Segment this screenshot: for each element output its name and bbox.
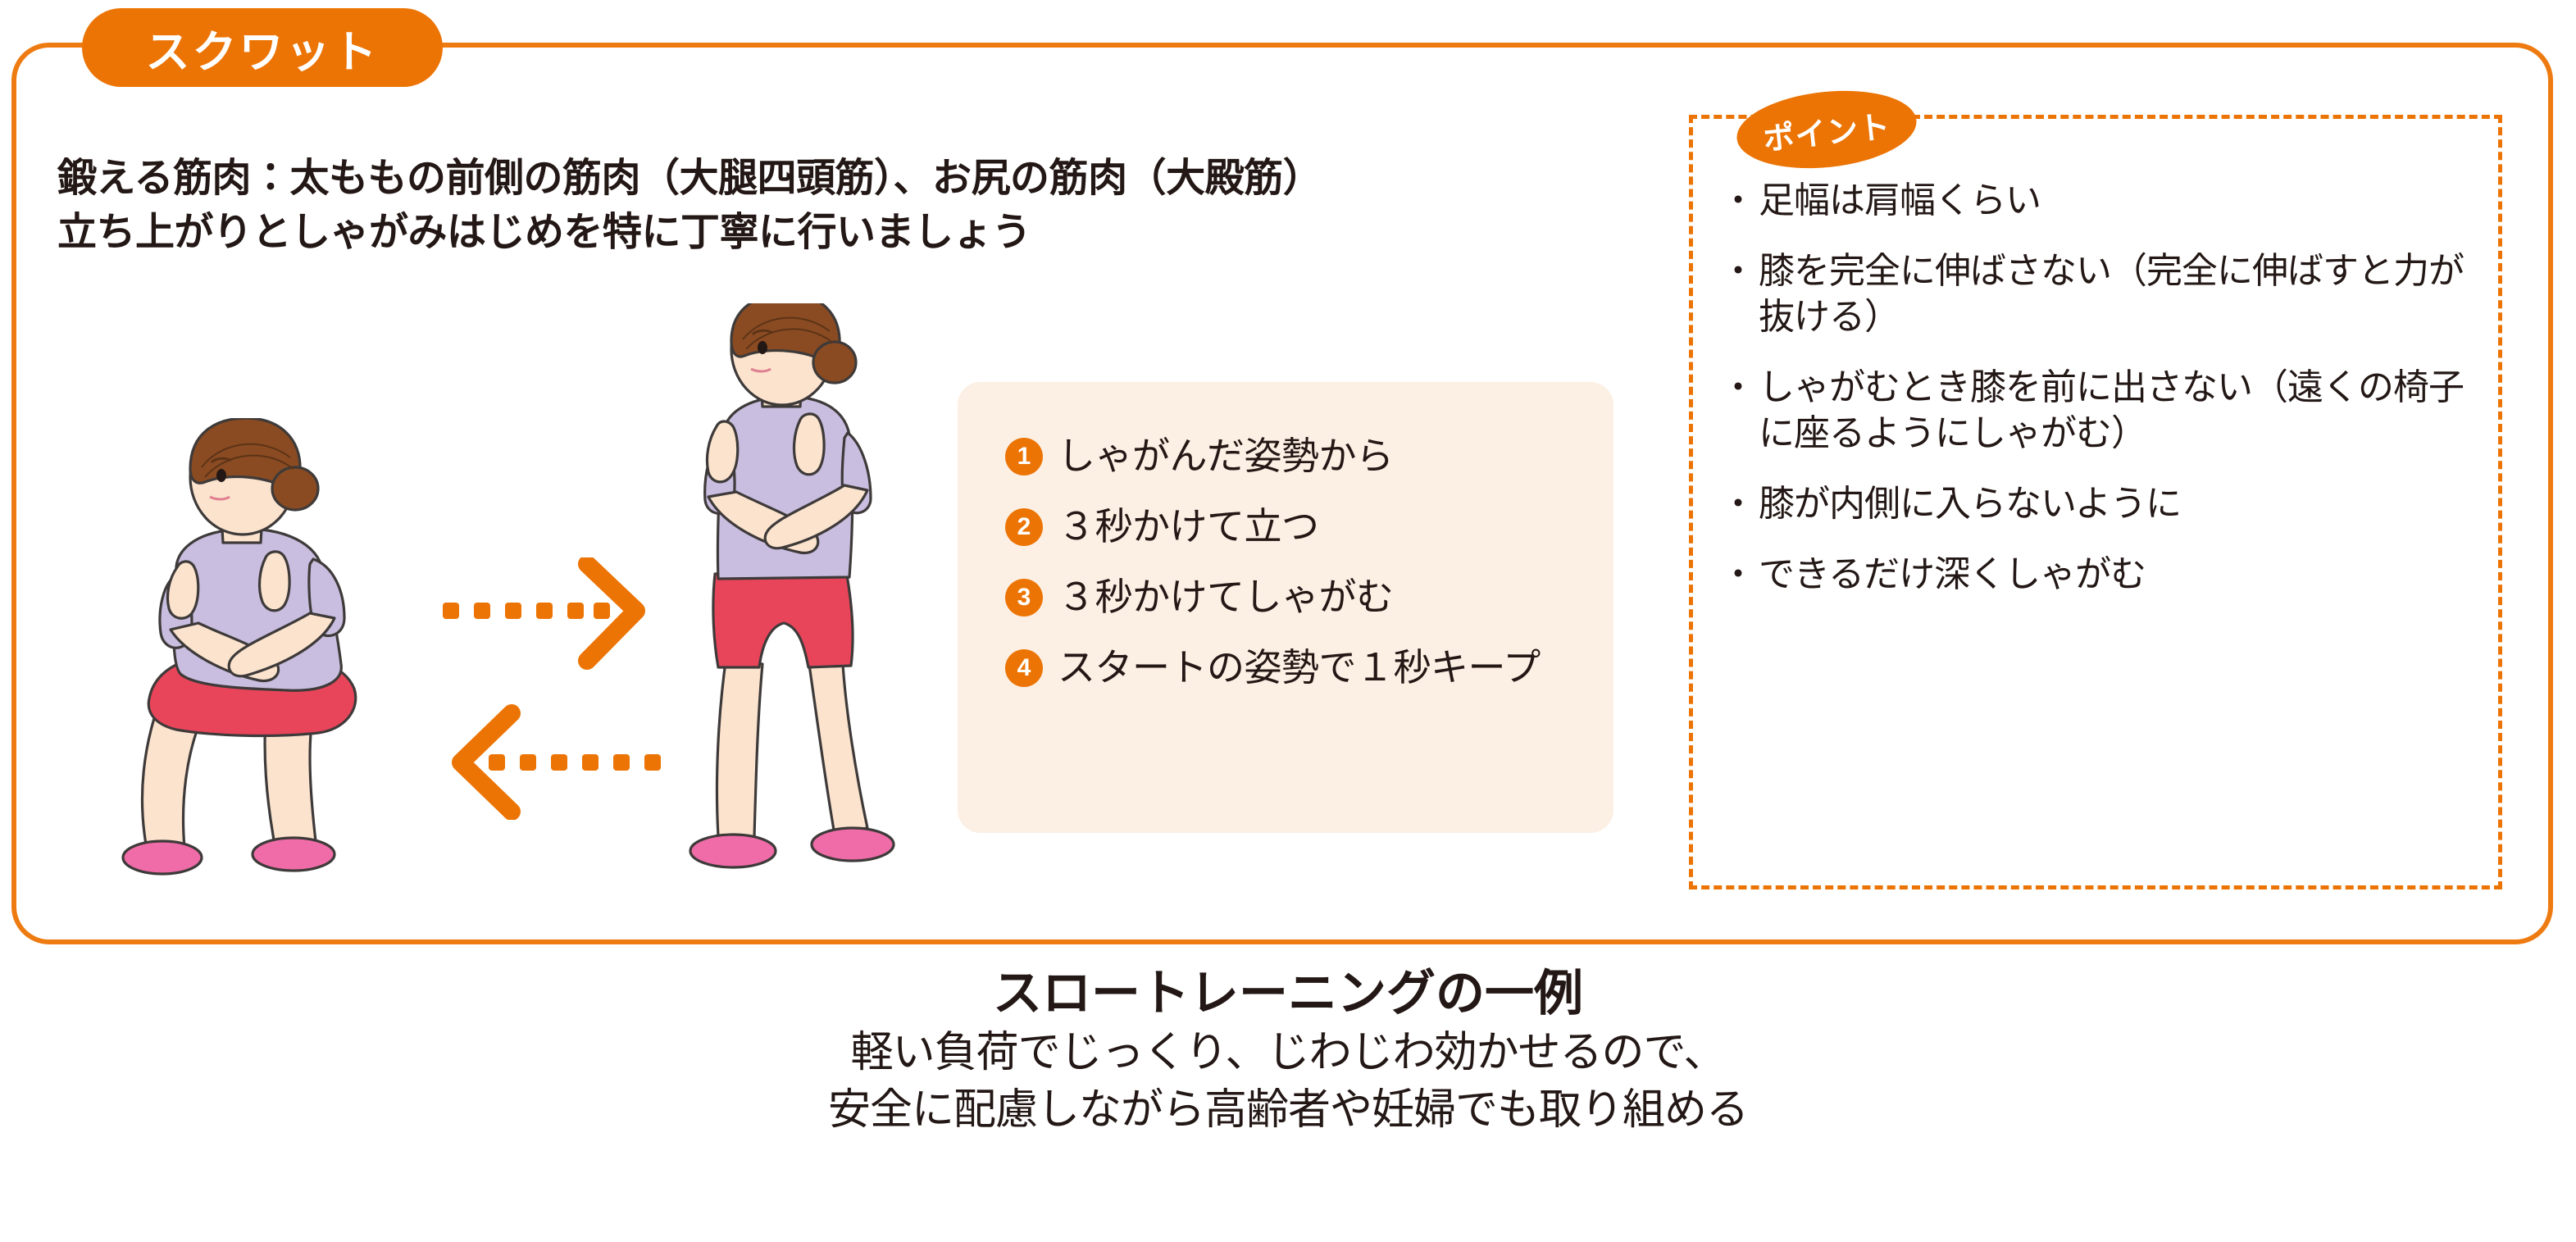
step-text-4: スタートの姿勢で１秒キープ [1058, 643, 1541, 692]
point-item-3: ・ しゃがむとき膝を前に出さない（遠くの椅子に座るようにしゃがむ） [1721, 365, 2474, 457]
point-text-2: 膝を完全に伸ばさない（完全に伸ばすと力が抜ける） [1759, 248, 2474, 340]
points-title-label: ポイント [1761, 100, 1893, 158]
squatting-woman-illustration [98, 418, 426, 885]
caption-block: スロートレーニングの一例 軽い負荷でじっくり、じわじわ効かせるので、 安全に配慮… [0, 963, 2576, 1139]
bullet-icon: ・ [1721, 481, 1755, 527]
dotted-arrow-left [461, 713, 661, 812]
point-item-1: ・ 足幅は肩幅くらい [1721, 178, 2474, 224]
point-text-1: 足幅は肩幅くらい [1759, 178, 2041, 224]
step-item-2: 2 ３秒かけて立つ [1005, 502, 1581, 551]
point-item-5: ・ できるだけ深くしゃがむ [1721, 552, 2474, 598]
point-text-5: できるだけ深くしゃがむ [1759, 552, 2146, 598]
description-block: 鍛える筋肉：太ももの前側の筋肉（大腿四頭筋）、お尻の筋肉（大殿筋） 立ち上がりと… [57, 152, 1664, 260]
points-panel: ・ 足幅は肩幅くらい ・ 膝を完全に伸ばさない（完全に伸ばすと力が抜ける） ・ … [1689, 115, 2502, 889]
bullet-icon: ・ [1721, 552, 1755, 598]
step-item-4: 4 スタートの姿勢で１秒キープ [1005, 643, 1581, 692]
step-number-4: 4 [1005, 649, 1043, 687]
step-text-1: しゃがんだ姿勢から [1058, 431, 1394, 480]
point-text-4: 膝が内側に入らないように [1759, 481, 2181, 527]
bullet-icon: ・ [1721, 248, 1755, 294]
description-line-1: 鍛える筋肉：太ももの前側の筋肉（大腿四頭筋）、お尻の筋肉（大殿筋） [57, 152, 1664, 206]
caption-line-1: 軽い負荷でじっくり、じわじわ効かせるので、 [0, 1024, 2576, 1081]
transition-arrows [410, 557, 689, 820]
step-item-3: 3 ３秒かけてしゃがむ [1005, 572, 1581, 621]
step-number-2: 2 [1005, 508, 1043, 546]
bullet-icon: ・ [1721, 178, 1755, 224]
exercise-title-badge: スクワット [82, 8, 443, 87]
point-item-2: ・ 膝を完全に伸ばさない（完全に伸ばすと力が抜ける） [1721, 248, 2474, 340]
step-number-3: 3 [1005, 579, 1043, 616]
step-number-1: 1 [1005, 438, 1043, 475]
standing-woman-illustration [648, 303, 926, 885]
step-text-3: ３秒かけてしゃがむ [1058, 572, 1394, 621]
point-item-4: ・ 膝が内側に入らないように [1721, 481, 2474, 527]
bullet-icon: ・ [1721, 365, 1755, 411]
step-item-1: 1 しゃがんだ姿勢から [1005, 431, 1581, 480]
exercise-title-label: スクワット [146, 16, 380, 80]
dotted-arrow-right [443, 564, 636, 661]
caption-line-2: 安全に配慮しながら高齢者や妊婦でも取り組める [0, 1081, 2576, 1139]
caption-title: スロートレーニングの一例 [0, 963, 2576, 1024]
steps-panel: 1 しゃがんだ姿勢から 2 ３秒かけて立つ 3 ３秒かけてしゃがむ 4 スタート… [958, 382, 1613, 833]
step-text-2: ３秒かけて立つ [1058, 502, 1319, 551]
point-text-3: しゃがむとき膝を前に出さない（遠くの椅子に座るようにしゃがむ） [1759, 365, 2474, 457]
description-line-2: 立ち上がりとしゃがみはじめを特に丁寧に行いましょう [57, 206, 1664, 260]
